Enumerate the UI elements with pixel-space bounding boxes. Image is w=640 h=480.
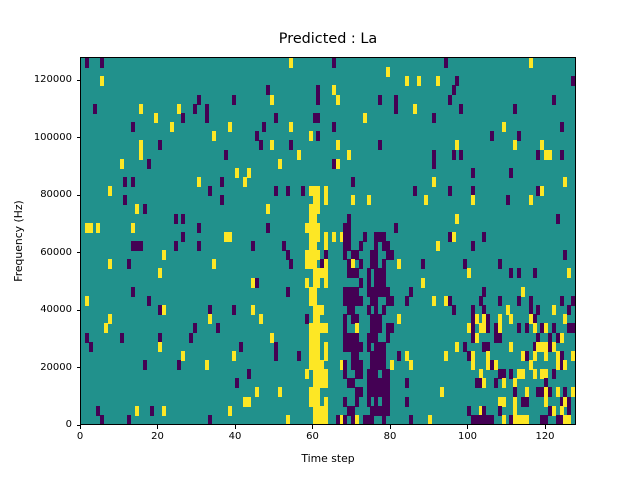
x-tick-label: 80 (360, 431, 420, 443)
heatmap-image[interactable] (81, 58, 575, 424)
x-tick-label: 60 (283, 431, 343, 443)
x-tick-mark (467, 425, 468, 429)
x-tick-mark (545, 425, 546, 429)
y-tick-label: 100000 (34, 132, 72, 144)
x-tick-mark (157, 425, 158, 429)
page-title: Predicted : La (80, 30, 576, 48)
x-tick-label: 100 (438, 431, 498, 443)
x-tick-label: 40 (205, 431, 265, 443)
y-tick-label: 120000 (34, 74, 72, 86)
x-axis-label: Time step (80, 452, 576, 465)
x-tick-mark (312, 425, 313, 429)
figure-canvas: Predicted : La 0200004000060000800001000… (0, 0, 640, 480)
x-tick-mark (390, 425, 391, 429)
x-tick-label: 0 (50, 431, 110, 443)
y-tick-label: 20000 (40, 362, 72, 374)
y-tick-label: 40000 (40, 304, 72, 316)
x-tick-mark (235, 425, 236, 429)
y-tick-label: 0 (66, 419, 72, 431)
y-tick-label: 60000 (40, 247, 72, 259)
y-tick-label: 80000 (40, 189, 72, 201)
x-tick-mark (80, 425, 81, 429)
x-tick-label: 120 (515, 431, 575, 443)
y-axis-label: Frequency (Hz) (12, 57, 26, 425)
y-tick-mark (77, 367, 81, 368)
y-tick-mark (77, 137, 81, 138)
y-tick-mark (77, 252, 81, 253)
y-tick-mark (77, 310, 81, 311)
y-tick-mark (77, 195, 81, 196)
heatmap-plot-area[interactable] (80, 57, 576, 425)
y-tick-mark (77, 80, 81, 81)
x-tick-label: 20 (128, 431, 188, 443)
